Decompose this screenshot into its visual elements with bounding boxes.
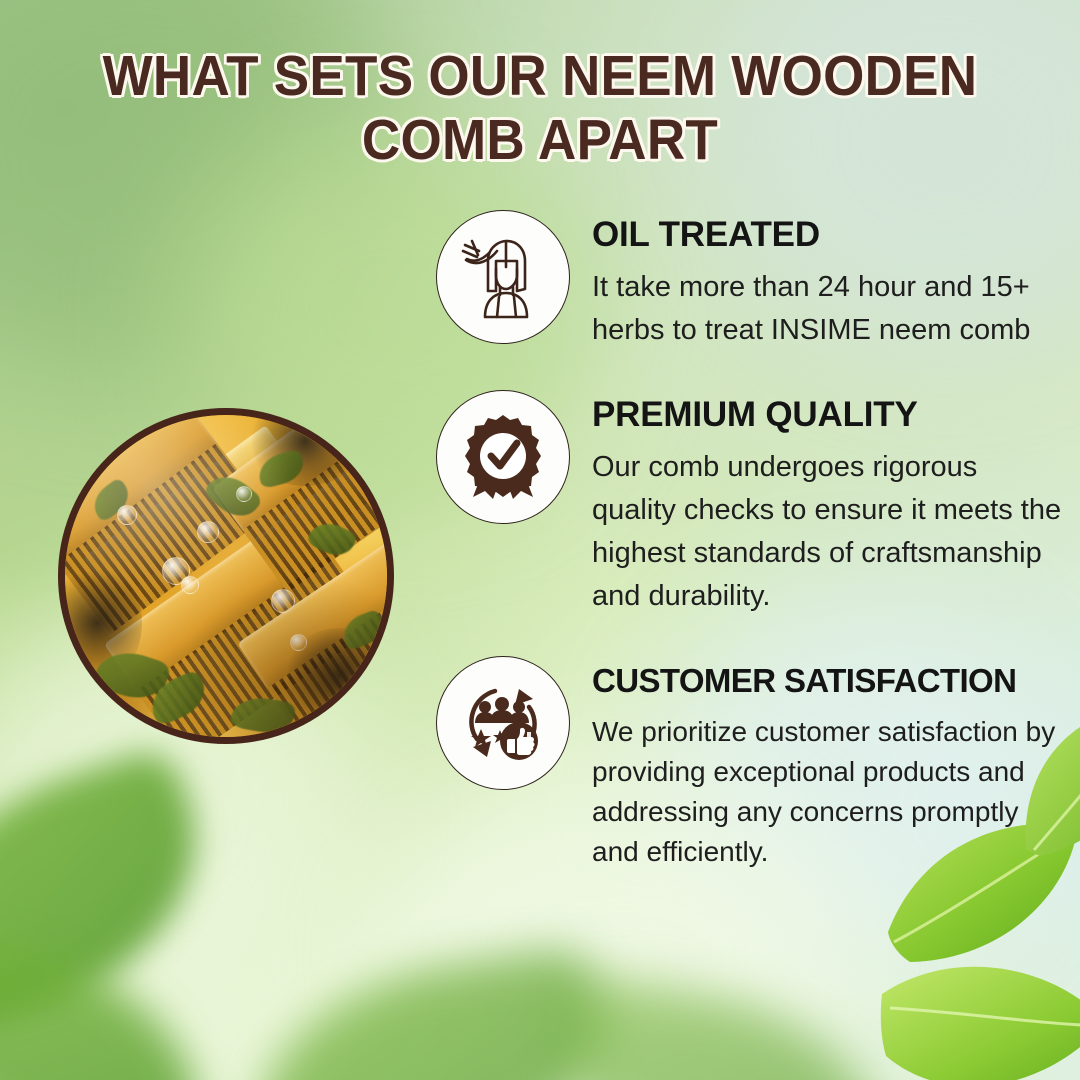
poster-title-block: WHAT SETS OUR NEEM WOODEN COMB APART (0, 44, 1080, 172)
oil-bubble (117, 505, 137, 525)
feature-item-premium-quality: PREMIUM QUALITY Our comb undergoes rigor… (436, 386, 1066, 618)
infographic-poster: WHAT SETS OUR NEEM WOODEN COMB APART (0, 0, 1080, 1080)
oil-bubble (181, 576, 199, 594)
feature-text: OIL TREATED It take more than 24 hour an… (592, 206, 1066, 352)
quality-badge-icon (436, 390, 570, 524)
feature-list: OIL TREATED It take more than 24 hour an… (436, 206, 1066, 872)
hair-oil-treatment-icon (436, 210, 570, 344)
title-line-2: COMB APART (362, 108, 718, 172)
feature-item-oil-treated: OIL TREATED It take more than 24 hour an… (436, 206, 1066, 352)
page-title: WHAT SETS OUR NEEM WOODEN COMB APART (94, 44, 987, 172)
title-line-1: WHAT SETS OUR NEEM WOODEN (103, 44, 978, 108)
oil-bubble (271, 589, 295, 613)
feature-item-customer-satisfaction: CUSTOMER SATISFACTION We prioritize cust… (436, 652, 1066, 872)
feature-title: CUSTOMER SATISFACTION (592, 662, 1066, 700)
customer-satisfaction-icon (436, 656, 570, 790)
oil-bubble (236, 486, 252, 502)
feature-text: CUSTOMER SATISFACTION We prioritize cust… (592, 652, 1066, 872)
feature-title: PREMIUM QUALITY (592, 396, 1066, 434)
feature-body: We prioritize customer satisfaction by p… (592, 712, 1066, 872)
feature-body: Our comb undergoes rigorous quality chec… (592, 446, 1066, 618)
feature-title: OIL TREATED (592, 216, 1066, 254)
product-photo-image (65, 415, 387, 737)
feature-body: It take more than 24 hour and 15+ herbs … (592, 266, 1066, 352)
product-photo-circle (58, 408, 394, 744)
feature-text: PREMIUM QUALITY Our comb undergoes rigor… (592, 386, 1066, 618)
leaf-icon (880, 960, 1080, 1080)
